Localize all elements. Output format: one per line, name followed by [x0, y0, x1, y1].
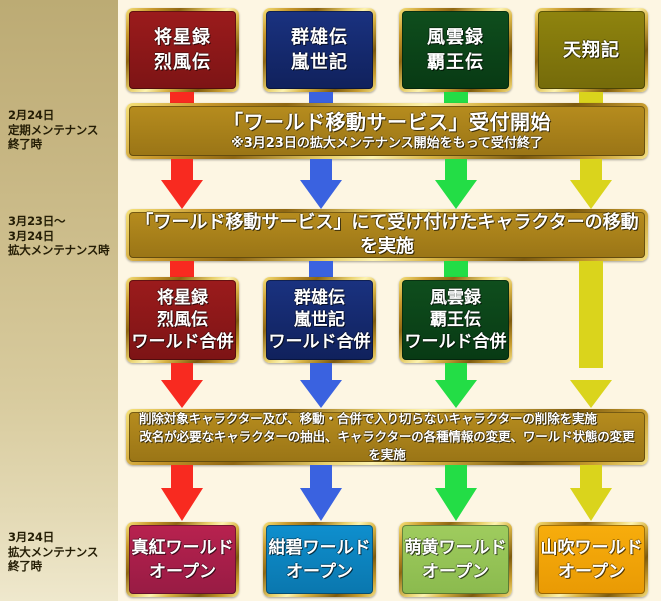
arrow-green-4 — [435, 363, 477, 409]
open-box-konpeki[interactable]: 紺碧ワールド オープン — [263, 522, 376, 597]
arrow-yellow-4 — [570, 363, 612, 409]
open-box-moegi[interactable]: 萌黄ワールド オープン — [399, 522, 512, 597]
world-box-gunyuden-label: 群雄伝 嵐世記 — [291, 25, 348, 75]
world-box-fuunroku[interactable]: 風雲録 覇王伝 — [399, 8, 512, 92]
arrow-blue-5 — [300, 465, 342, 522]
world-box-tenshouki-label: 天翔記 — [563, 38, 620, 63]
world-box-tenshouki[interactable]: 天翔記 — [535, 8, 648, 92]
merge-box-fuunroku-label: 風雲録 覇王伝 ワールド合併 — [405, 287, 507, 353]
arrow-blue-4 — [300, 363, 342, 409]
open-box-yamabuki-label: 山吹ワールド オープン — [541, 536, 643, 584]
arrow-green-5 — [435, 465, 477, 522]
merge-box-gunyuden[interactable]: 群雄伝 嵐世記 ワールド合併 — [263, 277, 376, 363]
arrow-yellow-5 — [570, 465, 612, 522]
timeline-sidebar: 2月24日 定期メンテナンス 終了時 3月23日〜 3月24日 拡大メンテナンス… — [0, 0, 118, 601]
character-cleanup-banner: 削除対象キャラクター及び、移動・合併で入り切らないキャラクターの削除を実施 改名… — [126, 409, 648, 465]
character-move-banner: 「ワールド移動サービス」にて受け付けたキャラクターの移動を実施 — [126, 209, 648, 261]
timeline-label-mar23: 3月23日〜 3月24日 拡大メンテナンス時 — [8, 214, 116, 258]
timeline-label-feb24: 2月24日 定期メンテナンス 終了時 — [8, 108, 116, 152]
cleanup-banner-line2: 改名が必要なキャラクターの抽出、キャラクターの各種情報の変更、ワールド状態の変更… — [139, 428, 635, 464]
merge-box-gunyuden-label: 群雄伝 嵐世記 ワールド合併 — [269, 287, 371, 353]
cleanup-banner-line1: 削除対象キャラクター及び、移動・合併で入り切らないキャラクターの削除を実施 — [139, 410, 597, 428]
open-box-moegi-label: 萌黄ワールド オープン — [405, 536, 507, 584]
service-banner-note: ※3月23日の拡大メンテナンス開始をもって受付終了 — [231, 135, 543, 153]
open-box-shinku[interactable]: 真紅ワールド オープン — [126, 522, 239, 597]
arrow-red-5 — [161, 465, 203, 522]
open-box-shinku-label: 真紅ワールド オープン — [132, 536, 234, 584]
world-box-shouseiroku-label: 将星録 烈風伝 — [154, 25, 211, 75]
open-box-konpeki-label: 紺碧ワールド オープン — [269, 536, 371, 584]
merge-box-shouseiroku[interactable]: 将星録 烈風伝 ワールド合併 — [126, 277, 239, 363]
bypass-stem-yellow — [579, 261, 603, 368]
world-box-shouseiroku[interactable]: 将星録 烈風伝 — [126, 8, 239, 92]
arrow-red-4 — [161, 363, 203, 409]
world-transfer-service-banner: 「ワールド移動サービス」受付開始 ※3月23日の拡大メンテナンス開始をもって受付… — [126, 103, 648, 159]
arrow-red-2 — [161, 159, 203, 209]
arrow-green-2 — [435, 159, 477, 209]
merge-box-fuunroku[interactable]: 風雲録 覇王伝 ワールド合併 — [399, 277, 512, 363]
world-box-fuunroku-label: 風雲録 覇王伝 — [427, 25, 484, 75]
arrow-yellow-2 — [570, 159, 612, 209]
timeline-label-mar24: 3月24日 拡大メンテナンス 終了時 — [8, 530, 116, 574]
move-banner-title: 「ワールド移動サービス」にて受け付けたキャラクターの移動を実施 — [129, 211, 645, 259]
arrow-blue-2 — [300, 159, 342, 209]
merge-box-shouseiroku-label: 将星録 烈風伝 ワールド合併 — [132, 287, 234, 353]
flowchart-diagram: 2月24日 定期メンテナンス 終了時 3月23日〜 3月24日 拡大メンテナンス… — [0, 0, 661, 601]
open-box-yamabuki[interactable]: 山吹ワールド オープン — [535, 522, 648, 597]
service-banner-title: 「ワールド移動サービス」受付開始 — [223, 110, 551, 135]
world-box-gunyuden[interactable]: 群雄伝 嵐世記 — [263, 8, 376, 92]
